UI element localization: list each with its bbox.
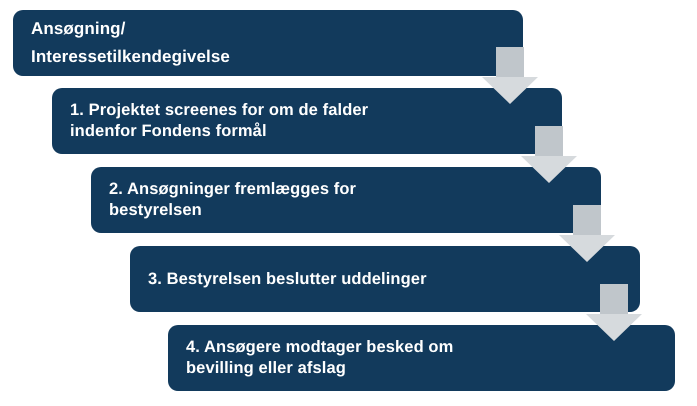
step-label-2: 2. Ansøgninger fremlægges for bestyrelse…: [109, 179, 601, 221]
step-label-3: 3. Bestyrelsen beslutter uddelinger: [148, 269, 640, 290]
step-box-start[interactable]: Ansøgning/ Interessetilkendegivelse: [13, 10, 523, 76]
arrow-step-3-to-step-4: [584, 284, 644, 342]
step-label-start: Ansøgning/ Interessetilkendegivelse: [31, 15, 523, 71]
arrow-step-1-to-step-2: [519, 126, 579, 184]
arrow-step-2-to-step-3: [557, 205, 617, 263]
flowchart-canvas: Ansøgning/ Interessetilkendegivelse 1. P…: [0, 0, 697, 406]
step-label-1: 1. Projektet screenes for om de falder i…: [70, 100, 562, 142]
step-label-4: 4. Ansøgere modtager besked om bevilling…: [186, 337, 675, 379]
arrow-start-to-step-1: [480, 47, 540, 105]
